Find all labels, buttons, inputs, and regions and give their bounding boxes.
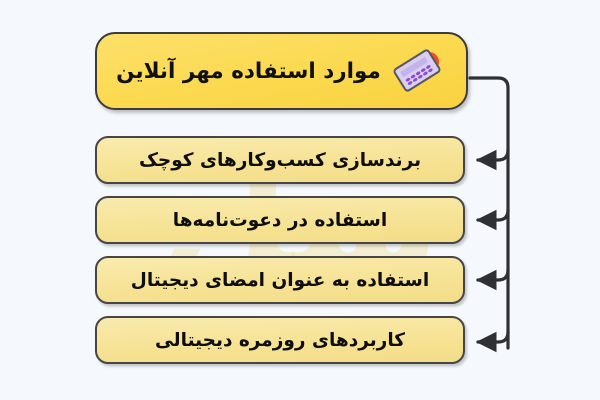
root-node[interactable]: موارد استفاده مهر آنلاین xyxy=(95,32,468,110)
child-node-label: استفاده به عنوان امضای دیجیتال xyxy=(115,270,445,291)
child-node[interactable]: برندسازی کسب‌وکارهای کوچک xyxy=(95,136,465,184)
child-node[interactable]: استفاده به عنوان امضای دیجیتال xyxy=(95,256,465,304)
pager-icon xyxy=(392,46,444,96)
connector-branch-4 xyxy=(478,332,508,342)
child-node[interactable]: استفاده در دعوت‌نامه‌ها xyxy=(95,196,465,244)
connector-branch-2 xyxy=(478,210,508,220)
child-node[interactable]: کاربردهای روزمره دیجیتالی xyxy=(95,316,465,364)
connector-branch-3 xyxy=(478,270,508,280)
connector-branch-1 xyxy=(478,150,508,160)
child-node-label: برندسازی کسب‌وکارهای کوچک xyxy=(115,150,445,171)
connector-trunk xyxy=(470,78,508,348)
child-node-label: استفاده در دعوت‌نامه‌ها xyxy=(115,210,445,231)
root-node-label: موارد استفاده مهر آنلاین xyxy=(111,59,392,84)
child-node-label: کاربردهای روزمره دیجیتالی xyxy=(115,330,445,351)
diagram-canvas: سل موارد استفا xyxy=(0,0,600,400)
